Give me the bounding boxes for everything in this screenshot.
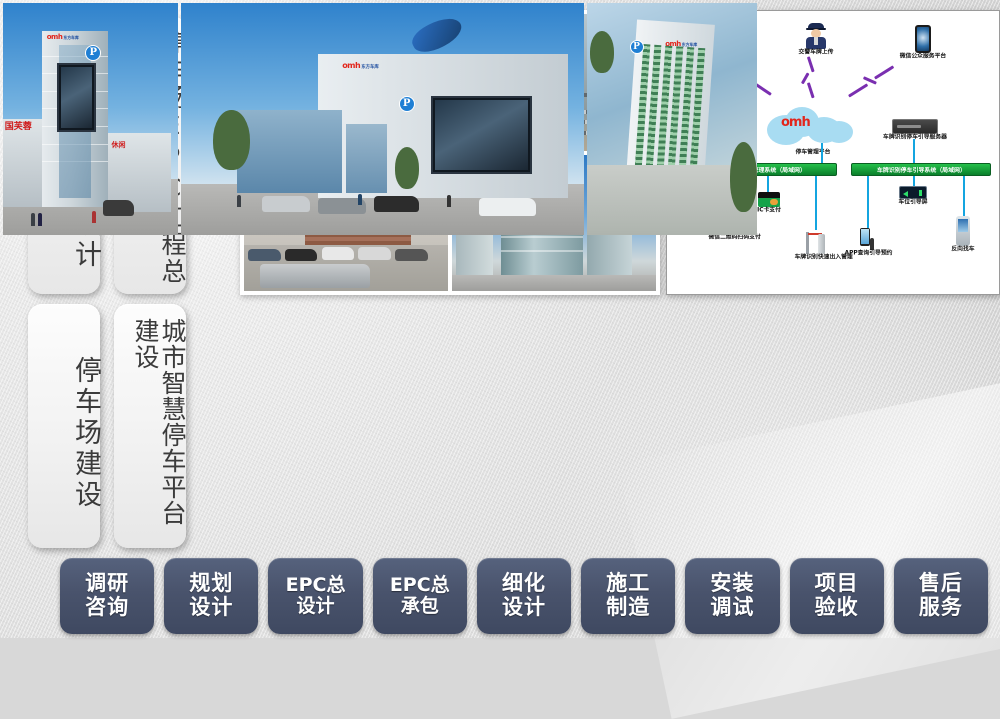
- sign-text-left: 国芙蓉: [5, 119, 32, 132]
- parking-logo-left: P: [85, 45, 101, 61]
- parking-logo-right: P: [630, 40, 644, 54]
- step-button-epc-contracting[interactable]: EPC总承包: [373, 558, 467, 634]
- cloud-platform-icon: omh: [767, 107, 859, 151]
- barrier-gate-icon: [804, 230, 830, 254]
- step-button-construction-manufacturing[interactable]: 施工制造: [581, 558, 675, 634]
- step-button-after-sales-service[interactable]: 售后服务: [894, 558, 988, 634]
- node-traffic-police-upload: 交警车牌上传: [783, 23, 849, 56]
- item-space-guidance-screen: 车位引导屏: [893, 186, 933, 206]
- item-plate-access-control: 车牌识别快速出入管理: [797, 230, 837, 261]
- omh-brand-center: omh东方车库: [342, 61, 379, 70]
- connector-cloud-down: [821, 143, 823, 165]
- step-button-planning-design[interactable]: 规划设计: [164, 558, 258, 634]
- sign-text-right: 休闲: [112, 140, 126, 150]
- parking-logo-center: P: [399, 96, 415, 112]
- guidance-screen-icon: [899, 186, 927, 199]
- system-bar-parking-guidance: 车牌识别停车引导系统（局域网）: [851, 163, 991, 176]
- connector-server: [913, 139, 915, 165]
- step-button-project-acceptance[interactable]: 项目验收: [790, 558, 884, 634]
- omh-brand-right: omh东方车库: [665, 40, 697, 48]
- step-button-detailed-design[interactable]: 细化设计: [477, 558, 571, 634]
- omh-brand-left: omh东方车库: [47, 33, 79, 41]
- node-plate-guidance-server: 车牌识别停车引导服务器: [867, 119, 963, 141]
- mobile-app-icon: [860, 228, 874, 250]
- omh-logo: omh: [781, 115, 810, 130]
- step-button-epc-design[interactable]: EPC总设计: [268, 558, 362, 634]
- credit-card-icon: [758, 192, 780, 207]
- server-icon: [892, 119, 938, 134]
- kiosk-icon: [956, 216, 970, 246]
- item-app-query-booking: APP查询引导预约: [847, 228, 887, 257]
- process-step-bar: 调研咨询 规划设计 EPC总设计 EPC总承包 细化设计 施工制造 安装调试 项…: [60, 558, 988, 634]
- node-wechat-public-service: 微信公众服务平台: [883, 25, 963, 60]
- item-reverse-car-finding: 反向找车: [945, 216, 981, 253]
- police-officer-icon: [805, 23, 827, 49]
- architectural-render-panel: 国芙蓉 休闲 omh东方车库 P omh东方车库 P: [0, 0, 760, 238]
- step-button-research-consulting[interactable]: 调研咨询: [60, 558, 154, 634]
- cloud-platform-label: 停车管理平台: [771, 149, 855, 156]
- sidebar-card-parking-construction[interactable]: 停车场建设: [28, 304, 100, 548]
- step-button-installation-commissioning[interactable]: 安装调试: [685, 558, 779, 634]
- sidebar-card-smart-city-parking-platform[interactable]: 城市智慧停车平台建设: [114, 304, 186, 548]
- render-mechanical-garage: omh东方车库 P: [181, 3, 584, 235]
- render-aerial-parking-tower: P omh东方车库: [587, 3, 757, 235]
- smartphone-icon: [915, 25, 931, 53]
- render-street-parking-tower: 国芙蓉 休闲 omh东方车库 P: [3, 3, 178, 235]
